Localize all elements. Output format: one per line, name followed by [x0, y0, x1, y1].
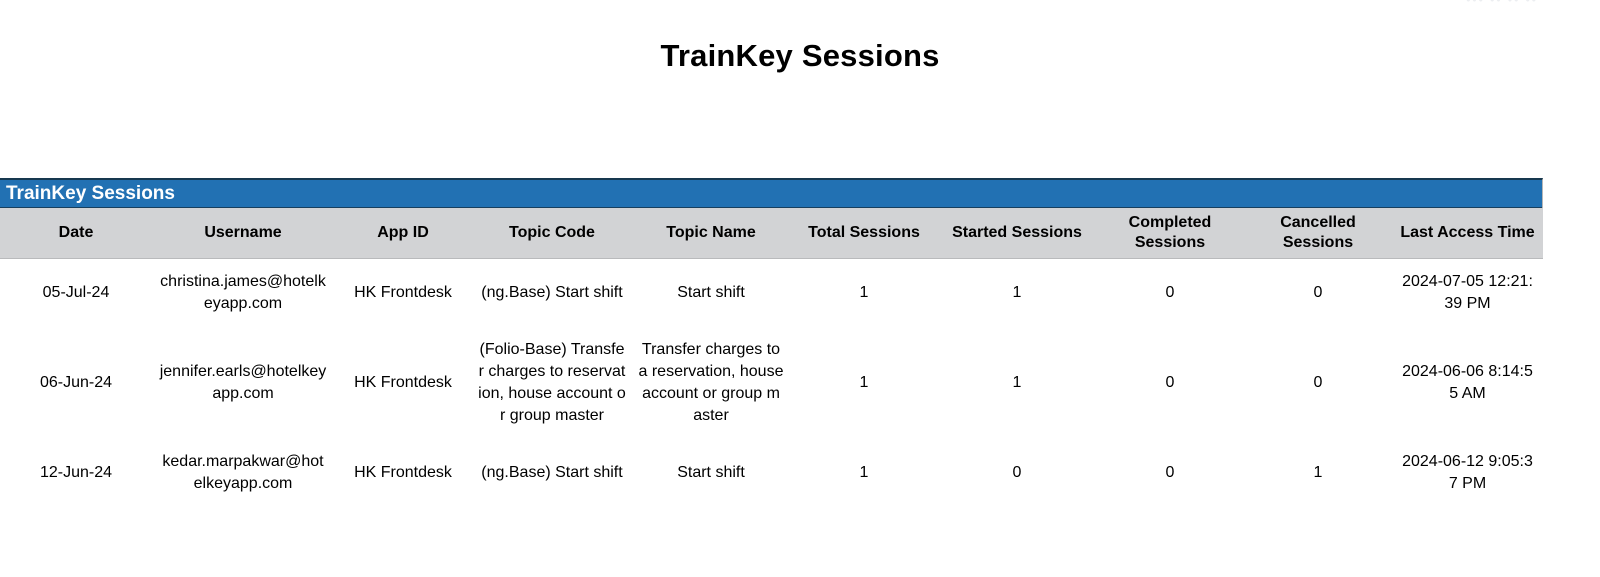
cell-topic-name: Start shift: [632, 439, 790, 507]
cell-username: jennifer.earls@hotelkeyapp.com: [152, 327, 334, 439]
column-header-total-sessions[interactable]: Total Sessions: [790, 208, 938, 258]
cell-last-access-time: 2024-07-05 12:21:39 PM: [1392, 258, 1543, 327]
cell-cancelled-sessions: 0: [1244, 327, 1392, 439]
cell-topic-name: Start shift: [632, 258, 790, 327]
cell-topic-name: Transfer charges to a reservation, house…: [632, 327, 790, 439]
report-frame: TrainKey Sessions Date Username App ID T…: [0, 178, 1543, 507]
cell-topic-code: (ng.Base) Start shift: [472, 439, 632, 507]
column-header-completed-sessions[interactable]: Completed Sessions: [1096, 208, 1244, 258]
cell-started-sessions: 1: [938, 258, 1096, 327]
column-header-last-access-time[interactable]: Last Access Time: [1392, 208, 1543, 258]
page-title: TrainKey Sessions: [0, 0, 1600, 74]
column-header-topic-code[interactable]: Topic Code: [472, 208, 632, 258]
sessions-table: Date Username App ID Topic Code Topic Na…: [0, 208, 1543, 507]
cell-username: christina.james@hotelkeyapp.com: [152, 258, 334, 327]
cell-started-sessions: 0: [938, 439, 1096, 507]
column-header-cancelled-sessions[interactable]: Cancelled Sessions: [1244, 208, 1392, 258]
column-header-username[interactable]: Username: [152, 208, 334, 258]
cell-completed-sessions: 0: [1096, 327, 1244, 439]
cell-total-sessions: 1: [790, 258, 938, 327]
cell-started-sessions: 1: [938, 327, 1096, 439]
cell-topic-code: (ng.Base) Start shift: [472, 258, 632, 327]
clipped-top-text: ••• •• •• ••: [1466, 0, 1538, 7]
column-header-app-id[interactable]: App ID: [334, 208, 472, 258]
cell-app-id: HK Frontdesk: [334, 439, 472, 507]
cell-cancelled-sessions: 0: [1244, 258, 1392, 327]
column-header-started-sessions[interactable]: Started Sessions: [938, 208, 1096, 258]
cell-date: 05-Jul-24: [0, 258, 152, 327]
cell-app-id: HK Frontdesk: [334, 327, 472, 439]
cell-app-id: HK Frontdesk: [334, 258, 472, 327]
cell-total-sessions: 1: [790, 327, 938, 439]
table-row[interactable]: 06-Jun-24 jennifer.earls@hotelkeyapp.com…: [0, 327, 1543, 439]
cell-completed-sessions: 0: [1096, 258, 1244, 327]
cell-date: 06-Jun-24: [0, 327, 152, 439]
cell-date: 12-Jun-24: [0, 439, 152, 507]
cell-total-sessions: 1: [790, 439, 938, 507]
table-row[interactable]: 12-Jun-24 kedar.marpakwar@hotelkeyapp.co…: [0, 439, 1543, 507]
report-band-title: TrainKey Sessions: [0, 180, 1542, 208]
cell-username: kedar.marpakwar@hotelkeyapp.com: [152, 439, 334, 507]
cell-last-access-time: 2024-06-06 8:14:55 AM: [1392, 327, 1543, 439]
table-row[interactable]: 05-Jul-24 christina.james@hotelkeyapp.co…: [0, 258, 1543, 327]
table-header-row: Date Username App ID Topic Code Topic Na…: [0, 208, 1543, 258]
column-header-topic-name[interactable]: Topic Name: [632, 208, 790, 258]
cell-last-access-time: 2024-06-12 9:05:37 PM: [1392, 439, 1543, 507]
table-body: 05-Jul-24 christina.james@hotelkeyapp.co…: [0, 258, 1543, 507]
column-header-date[interactable]: Date: [0, 208, 152, 258]
report-container: TrainKey Sessions Date Username App ID T…: [0, 178, 1543, 507]
cell-cancelled-sessions: 1: [1244, 439, 1392, 507]
cell-completed-sessions: 0: [1096, 439, 1244, 507]
cell-topic-code: (Folio-Base) Transfer charges to reserva…: [472, 327, 632, 439]
clipped-top-strip: ••• •• •• ••: [0, 0, 1600, 10]
